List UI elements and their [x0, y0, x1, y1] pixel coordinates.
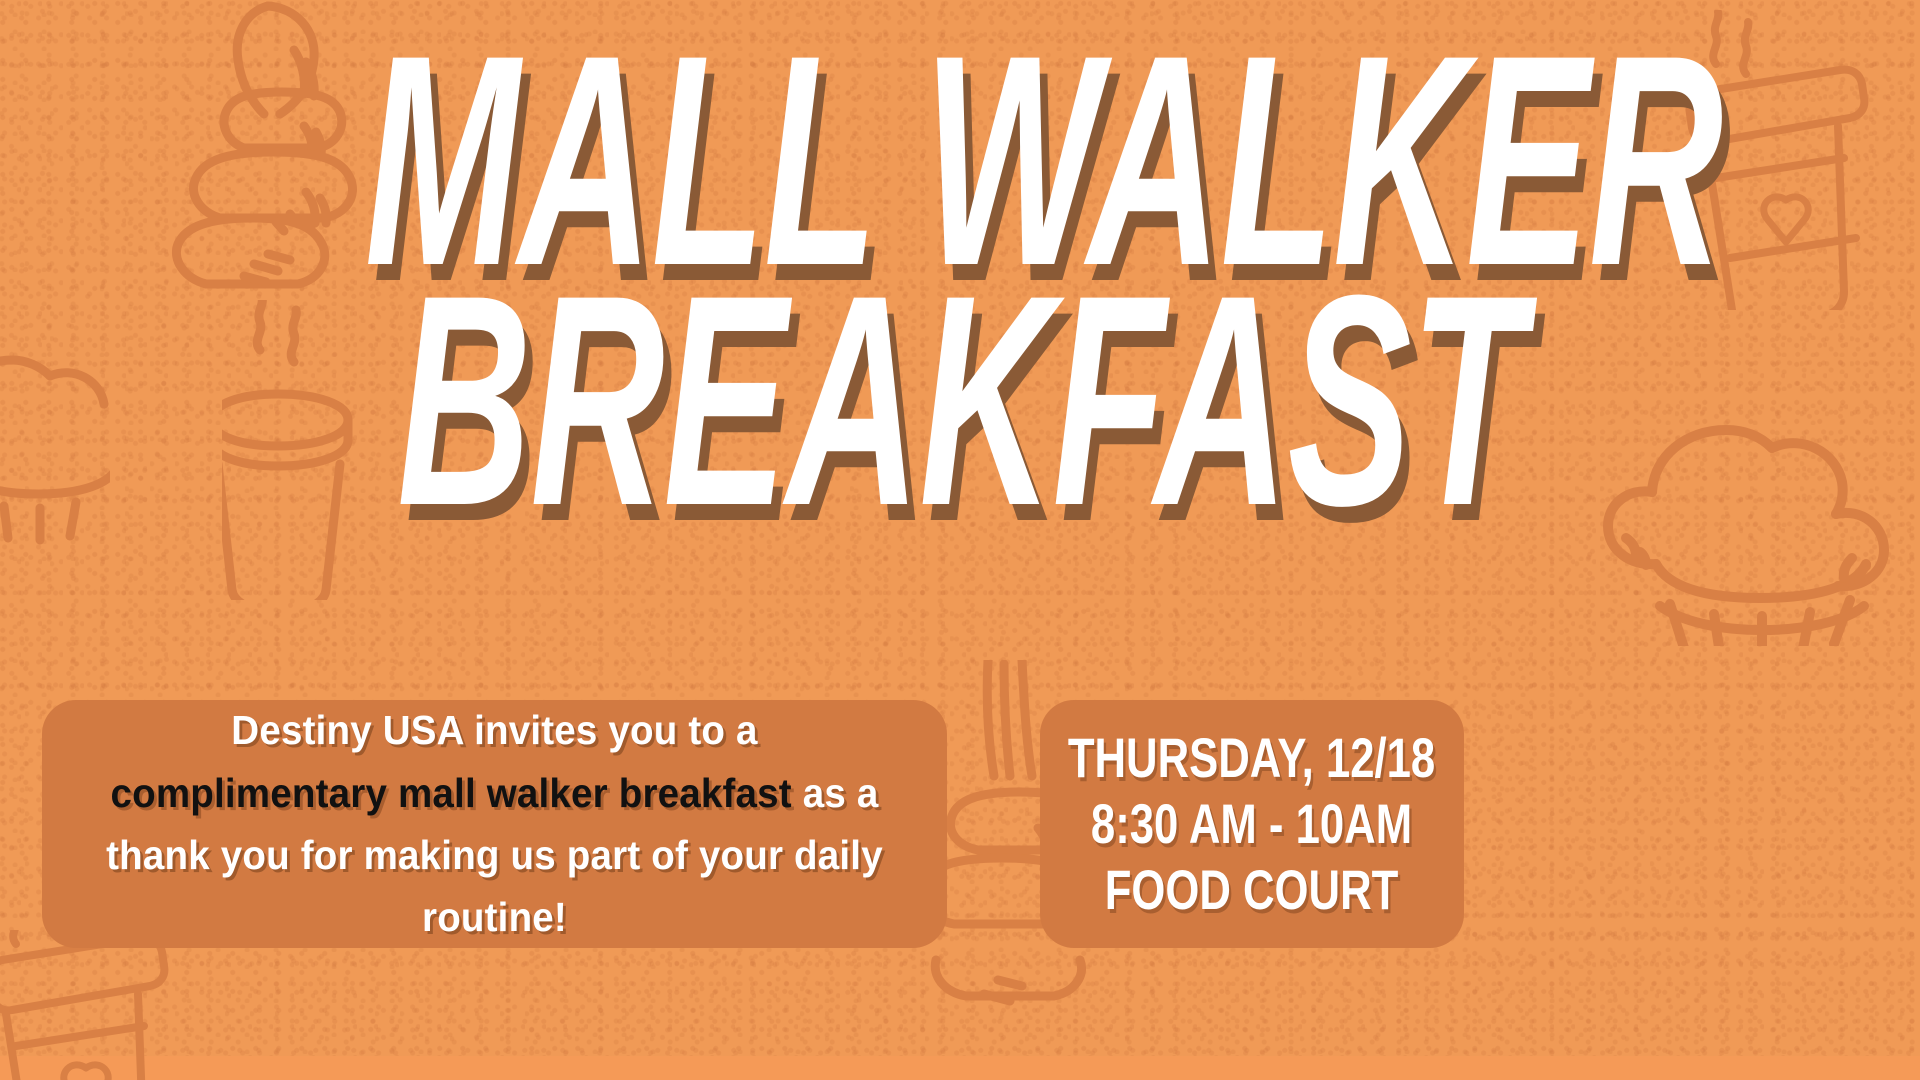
background-bottom-band [0, 1056, 1920, 1080]
event-time: 8:30 AM - 10AM [1068, 791, 1435, 857]
headline-line-2: BREAKFAST [365, 268, 1555, 532]
event-location: FOOD COURT [1068, 857, 1435, 923]
headline: MALL WALKER BREAKFAST [0, 28, 1920, 532]
body-copy-part-1: Destiny USA invites you to a [231, 707, 757, 753]
body-copy-text: Destiny USA invites you to a complimenta… [69, 699, 920, 948]
event-details-panel: THURSDAY, 12/18 8:30 AM - 10AM FOOD COUR… [1040, 700, 1464, 948]
body-copy-emphasis-1: complimentary [110, 770, 387, 816]
body-copy-panel: Destiny USA invites you to a complimenta… [42, 700, 947, 948]
event-details-text: THURSDAY, 12/18 8:30 AM - 10AM FOOD COUR… [1068, 725, 1435, 923]
body-copy-emphasis-2: mall walker breakfast [398, 770, 792, 816]
event-date: THURSDAY, 12/18 [1068, 725, 1435, 791]
poster-canvas: MALL WALKER BREAKFAST Destiny USA invite… [0, 0, 1920, 1080]
